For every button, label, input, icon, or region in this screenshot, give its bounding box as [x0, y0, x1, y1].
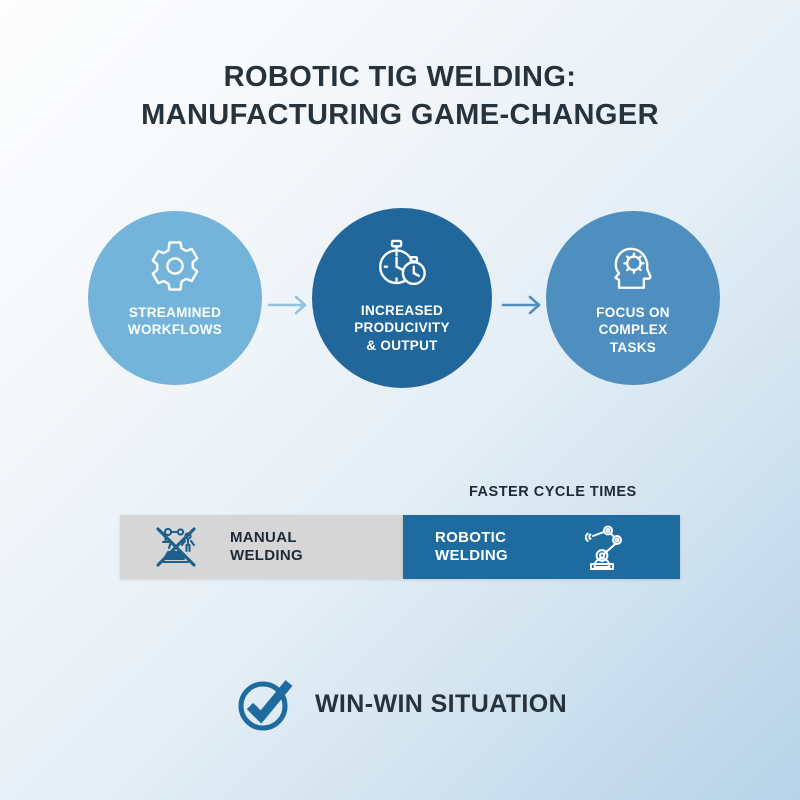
- comparison-bar-label: MANUALWELDING: [230, 529, 303, 566]
- arrow-right-icon-1: [266, 294, 312, 316]
- comparison-bar-label: ROBOTICWELDING: [435, 529, 508, 566]
- title-line-1: ROBOTIC TIG WELDING:: [0, 58, 800, 96]
- check-circle-icon: [233, 672, 297, 736]
- page-title: ROBOTIC TIG WELDING: MANUFACTURING GAME-…: [0, 58, 800, 135]
- comparison-bar-manual-welding[interactable]: MANUALWELDING: [120, 515, 403, 579]
- faster-cycle-times-callout: FASTER CYCLE TIMES: [469, 484, 637, 500]
- process-step-focus-complex-tasks[interactable]: FOCUS ONCOMPLEXTASKS: [546, 211, 720, 385]
- process-flow: STREAMINEDWORKFLOWS: [0, 208, 800, 388]
- process-step-label: INCREASEDPRODUCIVITY& OUTPUT: [354, 302, 450, 354]
- gear-icon: [146, 237, 204, 295]
- comparison-bar-robotic-welding[interactable]: ROBOTICWELDING: [403, 515, 680, 579]
- stopwatch-icon: [373, 235, 431, 293]
- title-line-2: MANUFACTURING GAME-CHANGER: [0, 96, 800, 134]
- manual-welder-crossed-icon: [152, 523, 204, 571]
- process-step-streamlined-workflows[interactable]: STREAMINEDWORKFLOWS: [88, 211, 262, 385]
- process-step-increased-productivity[interactable]: INCREASEDPRODUCIVITY& OUTPUT: [312, 208, 492, 388]
- process-step-label: FOCUS ONCOMPLEXTASKS: [596, 304, 670, 356]
- head-gear-icon: [604, 237, 662, 295]
- comparison-bars: MANUALWELDING ROBOTICWELDING: [120, 515, 680, 579]
- winwin-label: WIN-WIN SITUATION: [315, 690, 567, 719]
- robot-arm-icon: [576, 523, 628, 571]
- arrow-right-icon-2: [500, 294, 546, 316]
- process-step-label: STREAMINEDWORKFLOWS: [128, 304, 222, 339]
- winwin-section: WIN-WIN SITUATION: [0, 672, 800, 736]
